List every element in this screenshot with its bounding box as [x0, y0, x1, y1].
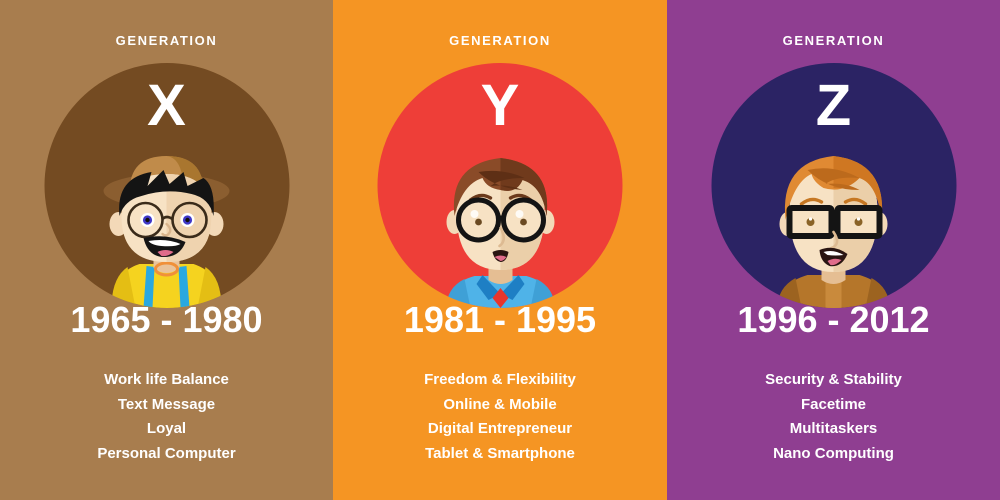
feature-item: Freedom & Flexibility	[333, 368, 667, 393]
panel-x-kicker: GENERATION	[116, 34, 218, 47]
panel-y-years: 1981 - 1995	[333, 302, 667, 338]
panel-y-kicker: GENERATION	[449, 34, 551, 47]
gen-z-avatar	[711, 138, 956, 308]
feature-item: Security & Stability	[667, 368, 1000, 393]
panel-z-circle	[711, 63, 956, 308]
panel-x-years: 1965 - 1980	[0, 302, 333, 338]
gen-y-avatar	[378, 138, 623, 308]
feature-item: Personal Computer	[0, 442, 333, 467]
panel-z-kicker: GENERATION	[783, 34, 885, 47]
feature-item: Nano Computing	[667, 442, 1000, 467]
gen-x-avatar	[44, 138, 289, 308]
panel-y-features: Freedom & Flexibility Online & Mobile Di…	[333, 368, 667, 466]
feature-item: Text Message	[0, 393, 333, 418]
generation-panel-x: GENERATION	[0, 0, 333, 500]
feature-item: Facetime	[667, 393, 1000, 418]
panel-z-badge: Z	[711, 63, 956, 308]
panel-y-badge: Y	[378, 63, 623, 308]
panel-y-circle	[378, 63, 623, 308]
feature-item: Tablet & Smartphone	[333, 442, 667, 467]
panel-x-circle	[44, 63, 289, 308]
generation-panel-y: GENERATION	[333, 0, 667, 500]
panel-z-years: 1996 - 2012	[667, 302, 1000, 338]
generation-panel-z: GENERATION	[667, 0, 1000, 500]
feature-item: Multitaskers	[667, 417, 1000, 442]
feature-item: Digital Entrepreneur	[333, 417, 667, 442]
panel-x-badge: X	[44, 63, 289, 308]
panel-x-features: Work life Balance Text Message Loyal Per…	[0, 368, 333, 466]
generations-infographic: GENERATION	[0, 0, 1000, 500]
panel-z-features: Security & Stability Facetime Multitaske…	[667, 368, 1000, 466]
feature-item: Loyal	[0, 417, 333, 442]
feature-item: Work life Balance	[0, 368, 333, 393]
feature-item: Online & Mobile	[333, 393, 667, 418]
